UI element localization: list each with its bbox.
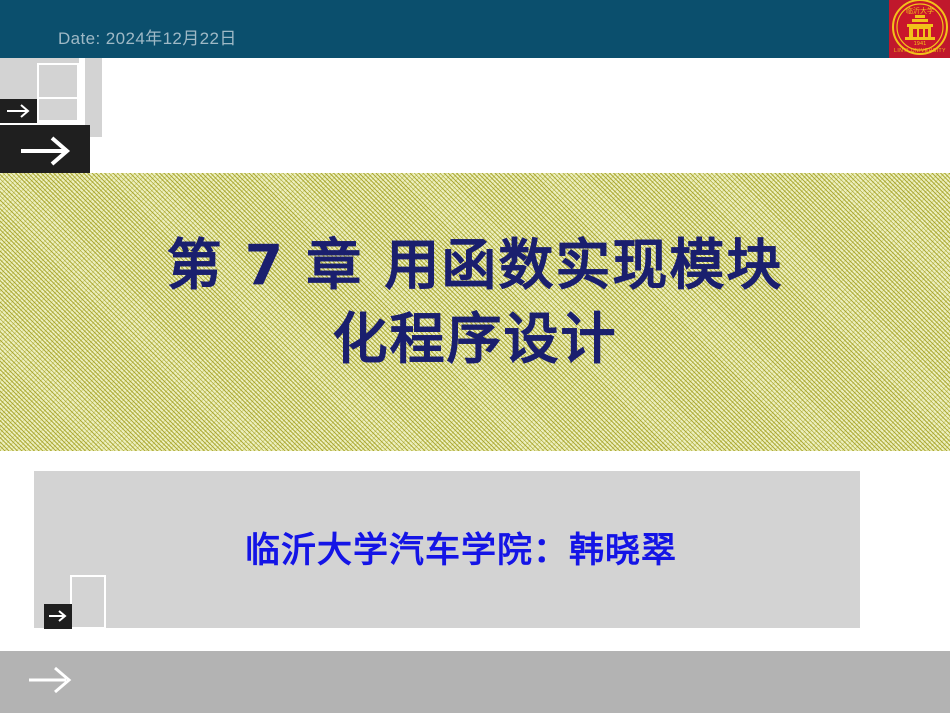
svg-text:临沂大学: 临沂大学 (906, 6, 934, 15)
decoration-square-bottom-lower (70, 604, 106, 629)
date-text: Date: 2024年12月22日 (58, 24, 237, 49)
decoration-square-top-lower (37, 99, 79, 122)
slide-title-line-1: 第 7 章 用函数实现模块 (0, 228, 950, 302)
arrow-chip-bottom-small (44, 604, 72, 629)
university-logo: 临沂大学 1941 LINYI UNIVERSITY (889, 0, 950, 58)
university-seal-icon: 临沂大学 1941 LINYI UNIVERSITY (891, 0, 949, 58)
decoration-strip-top-right (85, 58, 102, 122)
arrow-right-icon (20, 134, 72, 168)
slide-subtitle: 临沂大学汽车学院：韩晓翠 (34, 529, 860, 573)
slide-title: 第 7 章 用函数实现模块 化程序设计 (0, 228, 950, 376)
arrow-chip-top-small (0, 99, 37, 123)
svg-text:LINYI UNIVERSITY: LINYI UNIVERSITY (894, 48, 946, 54)
decoration-square-top-upper (37, 63, 79, 99)
svg-text:1941: 1941 (914, 41, 927, 47)
arrow-right-icon (48, 610, 68, 623)
title-band: 第 7 章 用函数实现模块 化程序设计 (0, 173, 950, 451)
arrow-right-icon (28, 663, 74, 697)
slide-title-line-2: 化程序设计 (0, 302, 950, 376)
arrow-block-top-large (0, 125, 90, 176)
presentation-slide: Date: 2024年12月22日 临沂大学 1941 (0, 0, 950, 713)
decoration-square-bottom-upper (70, 575, 106, 606)
slide-footer-bar (0, 651, 950, 713)
slide-header-bar: Date: 2024年12月22日 (0, 0, 950, 58)
content-box: 临沂大学汽车学院：韩晓翠 (34, 471, 860, 628)
arrow-right-icon (6, 104, 31, 118)
